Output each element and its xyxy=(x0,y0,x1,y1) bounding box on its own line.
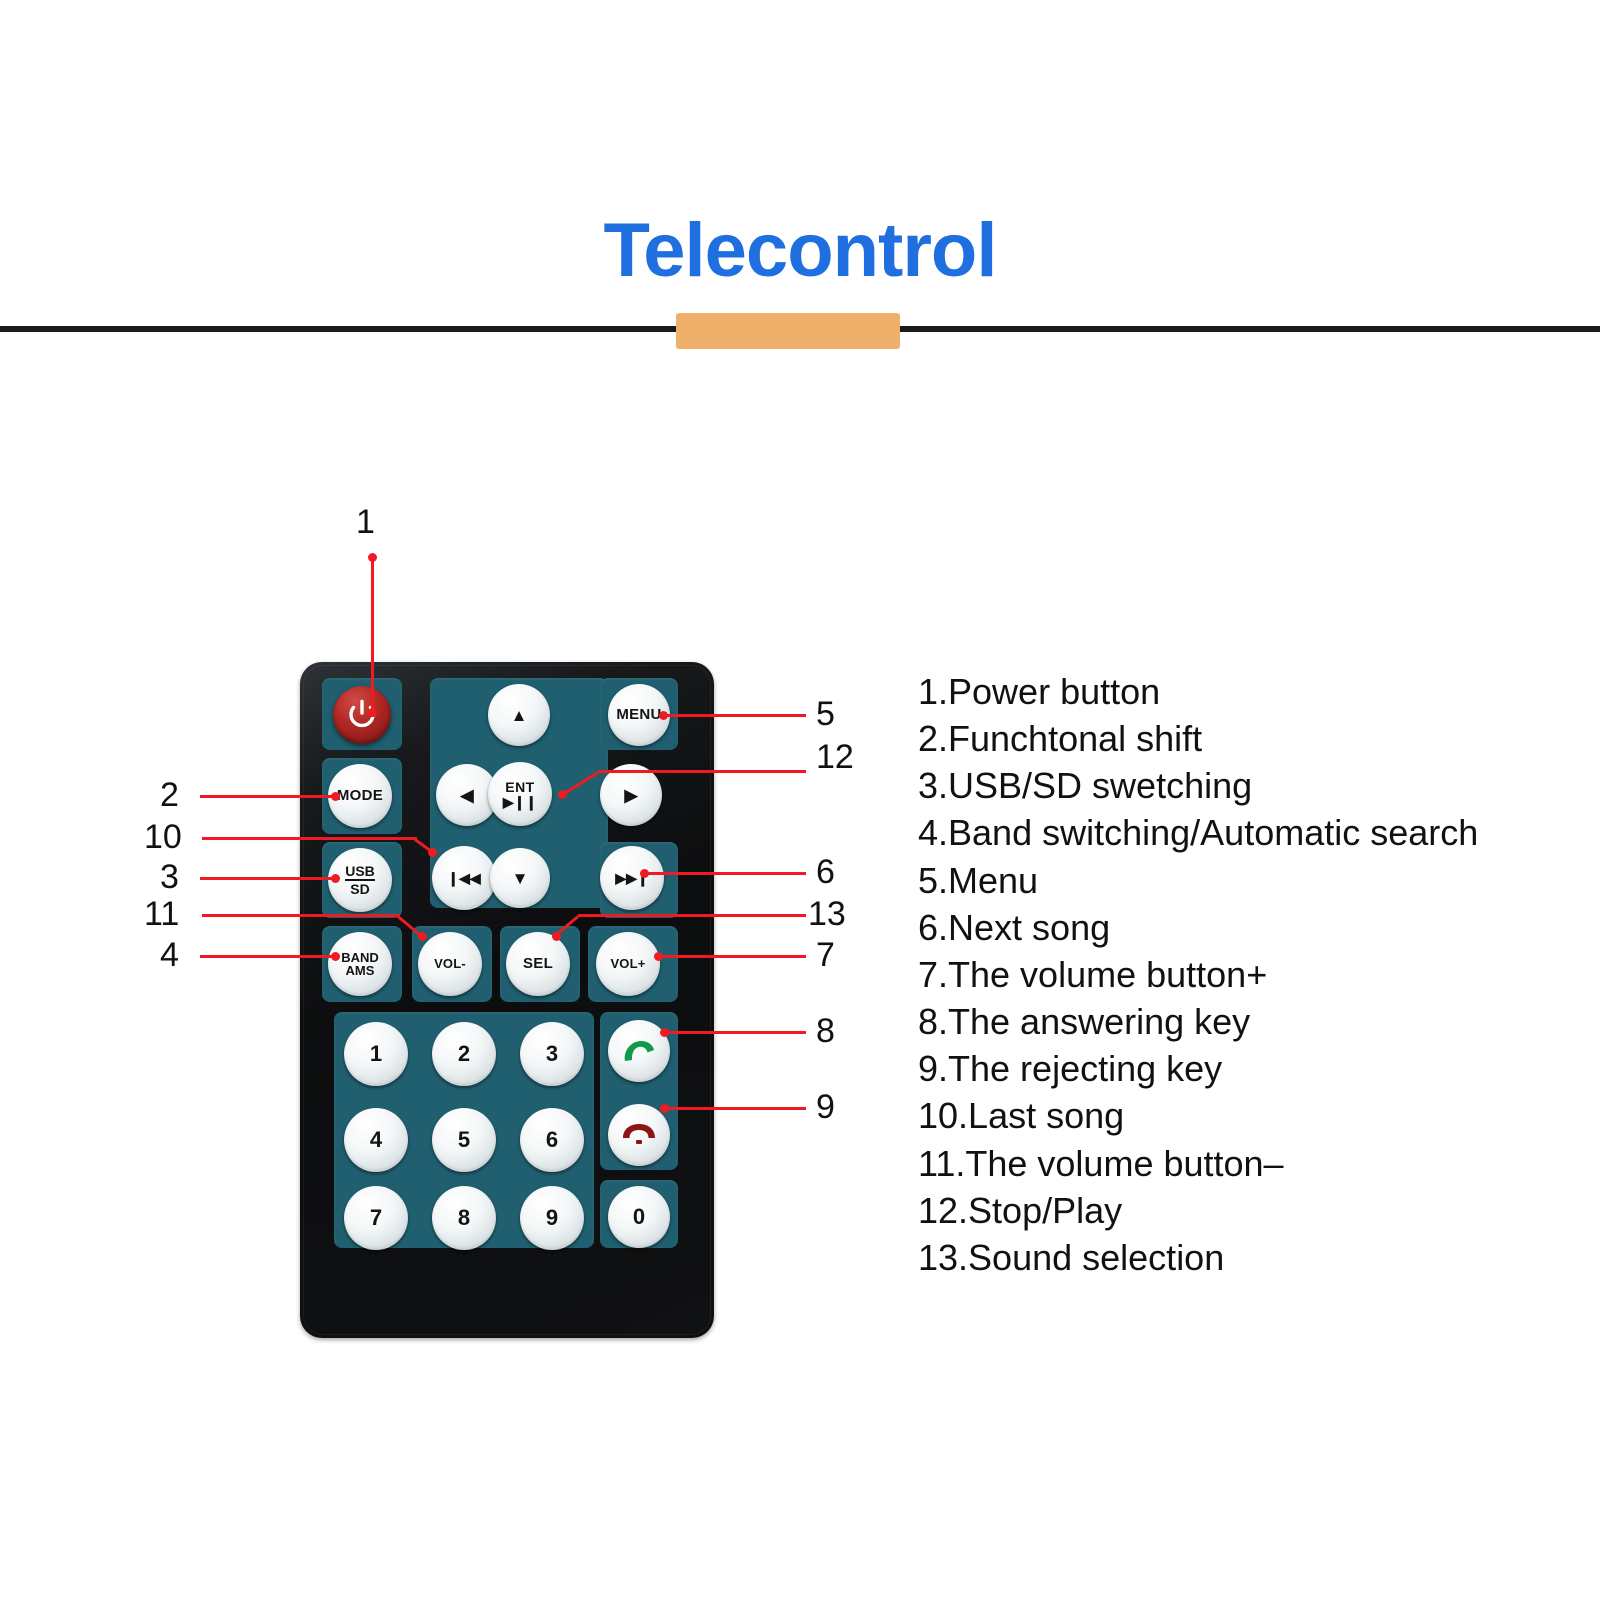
sel-label: SEL xyxy=(523,956,553,971)
digit-5-label: 5 xyxy=(458,1129,470,1151)
digit-2-label: 2 xyxy=(458,1043,470,1065)
phone-handset-green-icon xyxy=(621,1038,657,1064)
digit-9-button[interactable]: 9 xyxy=(520,1186,584,1250)
volume-up-label: VOL+ xyxy=(610,957,645,970)
ent-label-group: ENT ▶❙❙ xyxy=(503,780,537,809)
digit-4-button[interactable]: 4 xyxy=(344,1108,408,1172)
callout-number-5: 5 xyxy=(816,697,835,731)
callout-number-11: 11 xyxy=(144,897,179,931)
digit-9-label: 9 xyxy=(546,1207,558,1229)
digit-7-label: 7 xyxy=(370,1207,382,1229)
callout-dot-1-start xyxy=(368,553,377,562)
play-pause-icon: ▶❙❙ xyxy=(503,795,537,809)
legend-item: 11.The volume button– xyxy=(918,1140,1558,1187)
usb-label: USB xyxy=(345,864,375,881)
callout-line-7 xyxy=(658,955,806,958)
up-arrow-label: ▲ xyxy=(511,707,528,724)
callout-dot-1-end xyxy=(368,708,377,717)
ent-play-pause-button[interactable]: ENT ▶❙❙ xyxy=(488,762,552,826)
callout-dot-4 xyxy=(331,952,340,961)
mode-label: MODE xyxy=(337,788,383,803)
reject-call-button[interactable] xyxy=(608,1104,670,1166)
sd-label: SD xyxy=(350,881,369,896)
digit-1-button[interactable]: 1 xyxy=(344,1022,408,1086)
next-track-button[interactable]: ▶▶❙ xyxy=(600,846,664,910)
previous-track-button[interactable]: ❙◀◀ xyxy=(432,846,496,910)
legend-item: 2.Funchtonal shift xyxy=(918,715,1558,762)
legend-item: 7.The volume button+ xyxy=(918,951,1558,998)
volume-up-button[interactable]: VOL+ xyxy=(596,932,660,996)
phone-handset-red-icon xyxy=(620,1123,658,1147)
callout-number-4: 4 xyxy=(160,938,179,972)
legend-item: 8.The answering key xyxy=(918,998,1558,1045)
right-arrow-button[interactable]: ▶ xyxy=(600,764,662,826)
digit-0-label: 0 xyxy=(633,1206,645,1228)
down-arrow-button[interactable]: ▼ xyxy=(490,848,550,908)
digit-6-button[interactable]: 6 xyxy=(520,1108,584,1172)
legend-item: 12.Stop/Play xyxy=(918,1187,1558,1234)
callout-line-6 xyxy=(644,872,806,875)
power-button[interactable] xyxy=(333,686,391,744)
callout-dot-10 xyxy=(428,848,437,857)
callout-dot-12 xyxy=(558,790,567,799)
callout-line-5 xyxy=(663,714,806,717)
digit-6-label: 6 xyxy=(546,1129,558,1151)
legend-item: 5.Menu xyxy=(918,857,1558,904)
callout-number-3: 3 xyxy=(160,860,179,894)
legend-item: 3.USB/SD swetching xyxy=(918,762,1558,809)
page-root: Telecontrol ▲ xyxy=(0,0,1600,1600)
callout-number-13: 13 xyxy=(808,897,846,931)
callout-dot-5 xyxy=(659,711,668,720)
digit-7-button[interactable]: 7 xyxy=(344,1186,408,1250)
callout-line-1 xyxy=(371,557,374,717)
callout-number-7: 7 xyxy=(816,938,835,972)
up-arrow-button[interactable]: ▲ xyxy=(488,684,550,746)
callout-number-10: 10 xyxy=(144,820,182,854)
callout-dot-11 xyxy=(418,932,427,941)
callout-line-3 xyxy=(200,877,336,880)
ams-label: AMS xyxy=(346,964,375,977)
callout-number-2: 2 xyxy=(160,778,179,812)
callout-dot-3 xyxy=(331,874,340,883)
callout-line-12-h xyxy=(598,770,806,773)
digit-2-button[interactable]: 2 xyxy=(432,1022,496,1086)
callout-line-13-h xyxy=(578,914,806,917)
callout-line-8 xyxy=(664,1031,806,1034)
right-arrow-label: ▶ xyxy=(624,787,637,804)
callout-dot-6 xyxy=(640,869,649,878)
digit-8-label: 8 xyxy=(458,1207,470,1229)
page-title: Telecontrol xyxy=(0,213,1600,289)
callout-dot-9 xyxy=(660,1104,669,1113)
legend-item: 13.Sound selection xyxy=(918,1234,1558,1281)
callout-line-9 xyxy=(664,1107,806,1110)
legend-item: 6.Next song xyxy=(918,904,1558,951)
callout-line-10-h xyxy=(202,837,417,840)
header-accent-badge xyxy=(676,313,900,349)
callout-dot-7 xyxy=(654,952,663,961)
volume-down-button[interactable]: VOL- xyxy=(418,932,482,996)
skip-back-icon: ❙◀◀ xyxy=(447,871,480,885)
usb-sd-label-group: USB SD xyxy=(345,864,375,896)
band-ams-label-group: BAND AMS xyxy=(341,951,379,978)
ent-label: ENT xyxy=(505,780,535,794)
callout-number-9: 9 xyxy=(816,1090,835,1124)
legend-item: 4.Band switching/Automatic search xyxy=(918,809,1558,856)
down-arrow-label: ▼ xyxy=(512,870,529,887)
callout-line-11-h xyxy=(202,914,400,917)
digit-3-label: 3 xyxy=(546,1043,558,1065)
sel-button[interactable]: SEL xyxy=(506,932,570,996)
callout-line-2 xyxy=(200,795,336,798)
digit-4-label: 4 xyxy=(370,1129,382,1151)
callout-dot-13 xyxy=(552,932,561,941)
menu-label: MENU xyxy=(616,707,661,722)
callout-number-12: 12 xyxy=(816,740,854,774)
digit-1-label: 1 xyxy=(370,1043,382,1065)
legend-item: 10.Last song xyxy=(918,1092,1558,1139)
band-ams-button[interactable]: BAND AMS xyxy=(328,932,392,996)
digit-5-button[interactable]: 5 xyxy=(432,1108,496,1172)
button-legend-list: 1.Power button 2.Funchtonal shift 3.USB/… xyxy=(918,668,1558,1281)
digit-8-button[interactable]: 8 xyxy=(432,1186,496,1250)
legend-item: 1.Power button xyxy=(918,668,1558,715)
volume-down-label: VOL- xyxy=(434,957,466,970)
callout-line-4 xyxy=(200,955,336,958)
callout-dot-2 xyxy=(331,792,340,801)
callout-number-6: 6 xyxy=(816,855,835,889)
legend-item: 9.The rejecting key xyxy=(918,1045,1558,1092)
band-label: BAND xyxy=(341,951,379,964)
callout-number-1: 1 xyxy=(356,505,375,539)
callout-dot-8 xyxy=(660,1028,669,1037)
digit-3-button[interactable]: 3 xyxy=(520,1022,584,1086)
digit-0-button[interactable]: 0 xyxy=(608,1186,670,1248)
remote-control-body: ▲ MENU MODE ◀ ENT ▶❙❙ ▶ USB SD xyxy=(300,662,714,1338)
callout-number-8: 8 xyxy=(816,1014,835,1048)
left-arrow-label: ◀ xyxy=(460,787,473,804)
